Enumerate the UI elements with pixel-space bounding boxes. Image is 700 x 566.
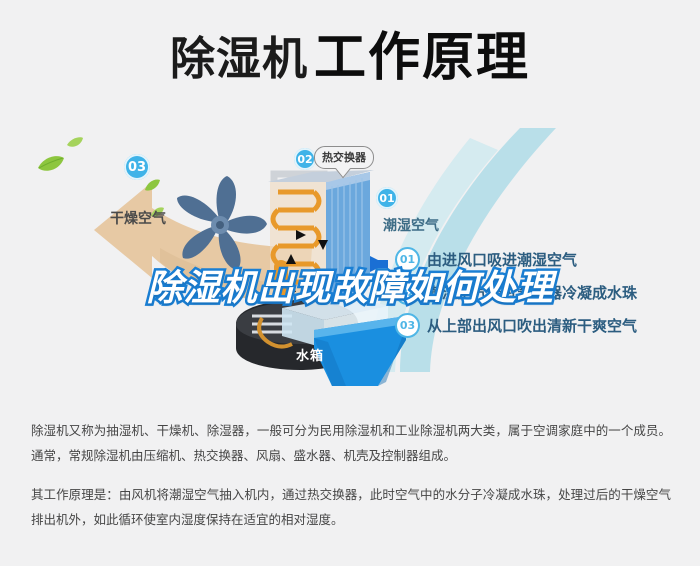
body-paragraph-2: 其工作原理是：由风机将潮湿空气抽入机内，通过热交换器，此时空气中的水分子冷凝成水… [31, 482, 671, 532]
list-item: 01 由进风口吸进潮湿空气 [395, 243, 695, 276]
infographic-page: 除湿机 工作原理 [0, 0, 700, 566]
label-water-tank: 水箱 [296, 345, 324, 364]
callout-heat-exchanger: 热交换器 [314, 146, 374, 169]
list-item: 03 从上部出风口吹出清新干爽空气 [395, 309, 695, 342]
step-number: 02 [395, 280, 420, 305]
badge-step-01: 01 [376, 187, 398, 209]
step-number: 01 [395, 247, 420, 272]
article-body: 除湿机又称为抽湿机、干燥机、除湿器，一般可分为民用除湿机和工业除湿机两大类，属于… [31, 418, 671, 546]
page-title-part2: 工作原理 [314, 32, 530, 84]
label-humid-air: 潮湿空气 [383, 215, 439, 235]
body-paragraph-1: 除湿机又称为抽湿机、干燥机、除湿器，一般可分为民用除湿机和工业除湿机两大类，属于… [31, 418, 671, 468]
leaf-icon [144, 178, 162, 193]
leaf-icon [36, 154, 66, 174]
step-text: 从上部出风口吹出清新干爽空气 [427, 315, 637, 336]
step-number: 03 [395, 313, 420, 338]
badge-step-02: 02 [294, 148, 316, 170]
label-dry-air: 干燥空气 [110, 208, 166, 228]
badge-step-03: 03 [124, 154, 150, 180]
leaf-icon [66, 136, 84, 150]
step-text: 由进风口吸进潮湿空气 [427, 249, 577, 270]
page-title: 除湿机 工作原理 [0, 22, 700, 94]
list-item: 02 潮湿空气经过蒸发器冷凝成水珠 [395, 276, 695, 309]
step-text: 潮湿空气经过蒸发器冷凝成水珠 [427, 282, 637, 303]
steps-list: 01 由进风口吸进潮湿空气 02 潮湿空气经过蒸发器冷凝成水珠 03 从上部出风… [395, 243, 695, 342]
page-title-part1: 除湿机 [170, 36, 308, 81]
